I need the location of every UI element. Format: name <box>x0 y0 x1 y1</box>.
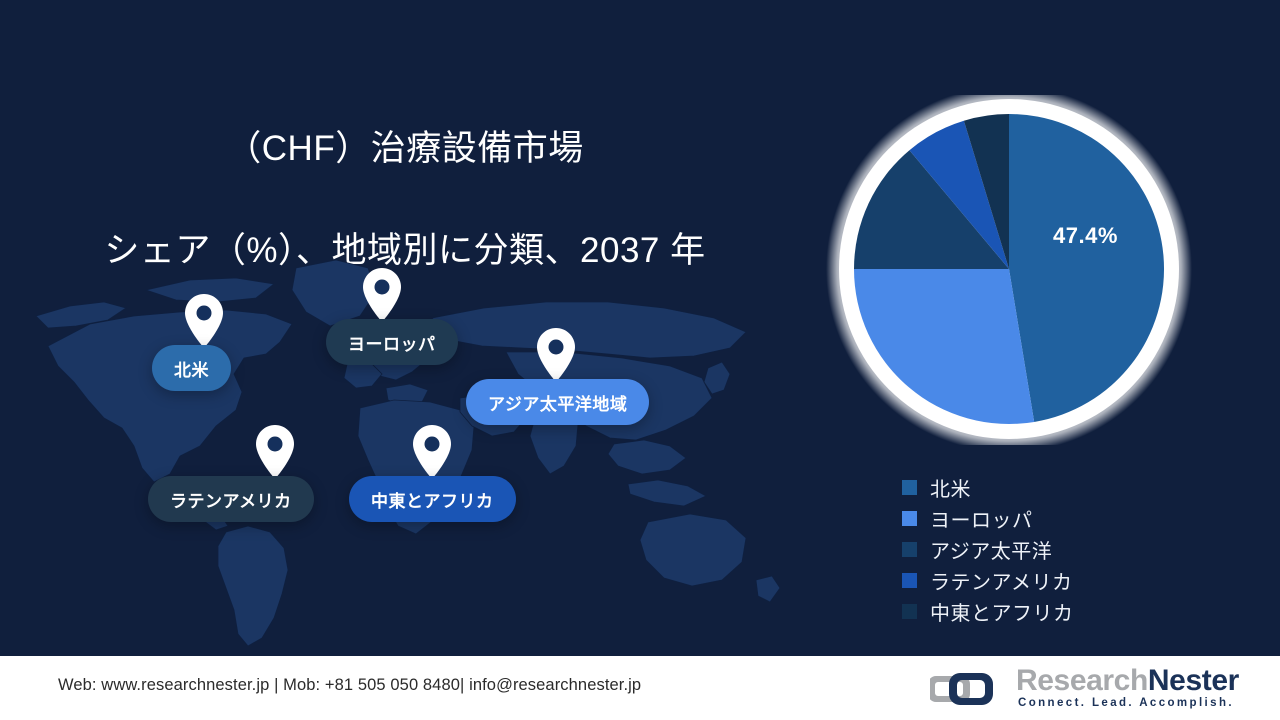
legend-swatch <box>902 480 917 495</box>
world-map: 北米 ヨーロッパ アジア太平洋地域 ラテンアメリカ 中東とアフリカ <box>30 250 790 650</box>
map-label-asia-pacific[interactable]: アジア太平洋地域 <box>466 379 649 425</box>
legend-item-middle-east-africa[interactable]: 中東とアフリカ <box>902 596 1242 627</box>
page-title-line-1: （CHF）治療設備市場 <box>0 123 810 174</box>
map-label-middle-east-africa[interactable]: 中東とアフリカ <box>349 476 516 522</box>
research-nester-logo: ResearchNester Connect. Lead. Accomplish… <box>930 666 1230 714</box>
slide-canvas: （CHF）治療設備市場 シェア（%）、地域別に分類、2037 年 <box>0 0 1280 720</box>
logo-wordmark: ResearchNester <box>1016 664 1239 698</box>
logo-chain-icon <box>930 668 1006 710</box>
legend-swatch <box>902 542 917 557</box>
world-map-graphic <box>30 250 790 650</box>
pie-chart: 47.4% <box>820 95 1198 445</box>
legend-label: アジア太平洋 <box>930 535 1052 564</box>
logo-word-nester: Nester <box>1148 664 1239 697</box>
legend-item-asia-pacific[interactable]: アジア太平洋 <box>902 534 1242 565</box>
map-label-text: ラテンアメリカ <box>170 487 292 512</box>
map-label-text: アジア太平洋地域 <box>488 390 627 415</box>
legend-item-latin-america[interactable]: ラテンアメリカ <box>902 565 1242 596</box>
logo-word-research: Research <box>1016 664 1148 697</box>
map-label-text: ヨーロッパ <box>348 330 436 355</box>
legend-swatch <box>902 511 917 526</box>
logo-tagline: Connect. Lead. Accomplish. <box>1018 697 1234 709</box>
pie-slice-ヨーロッパ[interactable] <box>854 269 1034 424</box>
legend-label: 北米 <box>930 473 971 502</box>
legend-item-europe[interactable]: ヨーロッパ <box>902 503 1242 534</box>
map-label-text: 中東とアフリカ <box>371 487 494 512</box>
legend-swatch <box>902 573 917 588</box>
pie-slice-group <box>854 114 1164 424</box>
map-label-latin-america[interactable]: ラテンアメリカ <box>148 476 314 522</box>
pie-slice-label-north-america: 47.4% <box>1053 223 1118 249</box>
legend-label: 中東とアフリカ <box>930 597 1074 626</box>
legend-item-north-america[interactable]: 北米 <box>902 472 1242 503</box>
pie-chart-graphic <box>820 95 1198 445</box>
legend-label: ヨーロッパ <box>930 504 1033 533</box>
legend-swatch <box>902 604 917 619</box>
map-label-text: 北米 <box>174 356 209 381</box>
legend-label: ラテンアメリカ <box>930 566 1073 595</box>
map-label-europe[interactable]: ヨーロッパ <box>326 319 458 365</box>
map-label-north-america[interactable]: 北米 <box>152 345 231 391</box>
footer-contact: Web: www.researchnester.jp | Mob: +81 50… <box>58 676 641 695</box>
chart-legend: 北米 ヨーロッパ アジア太平洋 ラテンアメリカ 中東とアフリカ <box>902 472 1242 627</box>
